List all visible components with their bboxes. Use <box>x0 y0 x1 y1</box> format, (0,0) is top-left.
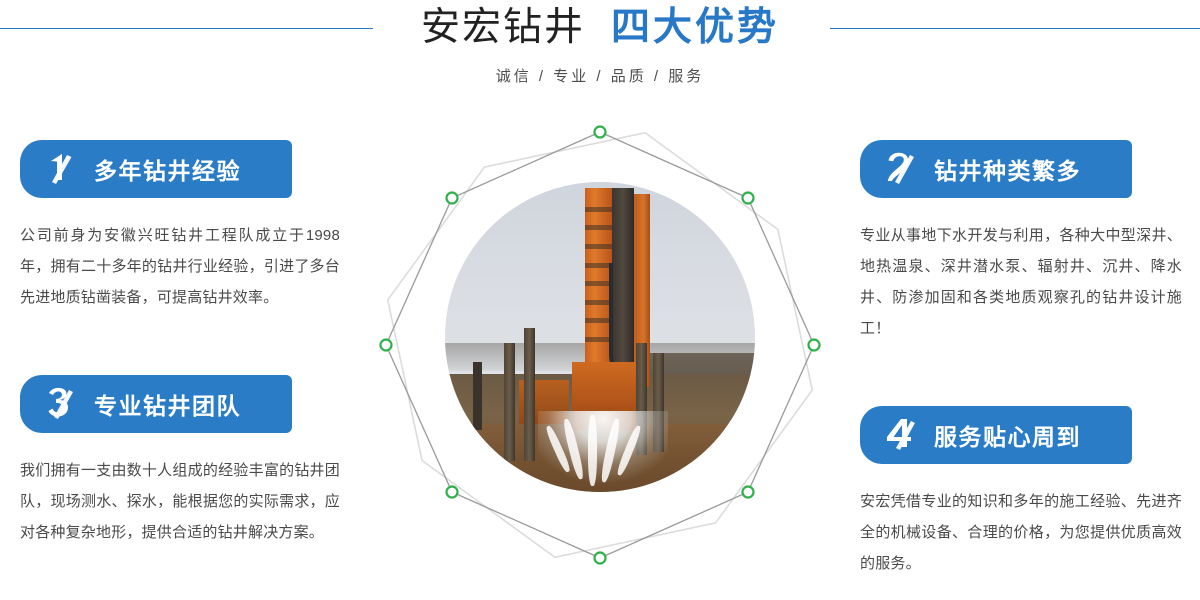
feature-body-4: 安宏凭借专业的知识和多年的施工经验、先进齐全的机械设备、合理的价格，为您提供优质… <box>860 486 1182 579</box>
number-3-icon <box>38 381 84 427</box>
feature-card-1: 多年钻井经验 公司前身为安徽兴旺钻井工程队成立于1998年，拥有二十多年的钻井行… <box>20 140 340 313</box>
feature-card-4: 服务贴心周到 安宏凭借专业的知识和多年的施工经验、先进齐全的机械设备、合理的价格… <box>860 406 1180 579</box>
feature-title-4: 服务贴心周到 <box>934 418 1081 452</box>
feature-title-2: 钻井种类繁多 <box>934 152 1081 186</box>
number-2-icon <box>878 146 924 192</box>
feature-card-2: 钻井种类繁多 专业从事地下水开发与利用，各种大中型深井、地热温泉、深井潜水泵、辐… <box>860 140 1180 344</box>
feature-title-1: 多年钻井经验 <box>94 152 241 186</box>
page-subtitle: 诚信 / 专业 / 品质 / 服务 <box>0 65 1200 86</box>
vertex-node-s <box>595 553 606 564</box>
feature-body-2: 专业从事地下水开发与利用，各种大中型深井、地热温泉、深井潜水泵、辐射井、沉井、降… <box>860 220 1182 344</box>
vertex-node-e <box>809 340 820 351</box>
feature-banner-1: 多年钻井经验 <box>20 140 292 198</box>
feature-column-right: 钻井种类繁多 专业从事地下水开发与利用，各种大中型深井、地热温泉、深井潜水泵、辐… <box>860 140 1180 579</box>
promo-page: 安宏钻井四大优势 诚信 / 专业 / 品质 / 服务 多年钻井经验 公司前身为安… <box>0 0 1200 600</box>
feature-body-1: 公司前身为安徽兴旺钻井工程队成立于1998年，拥有二十多年的钻井行业经验，引进了… <box>20 220 340 313</box>
vertex-node-w <box>381 340 392 351</box>
drilling-rig-photo <box>445 182 755 492</box>
vertex-node-n <box>595 127 606 138</box>
feature-body-3: 我们拥有一支由数十人组成的经验丰富的钻井团队，现场测水、探水，能根据您的实际需求… <box>20 455 340 548</box>
feature-banner-2: 钻井种类繁多 <box>860 140 1132 198</box>
feature-card-3: 专业钻井团队 我们拥有一支由数十人组成的经验丰富的钻井团队，现场测水、探水，能根… <box>20 375 340 548</box>
title-company: 安宏钻井 <box>421 8 585 47</box>
feature-banner-3: 专业钻井团队 <box>20 375 292 433</box>
page-title: 安宏钻井四大优势 <box>0 8 1200 47</box>
page-header: 安宏钻井四大优势 诚信 / 专业 / 品质 / 服务 <box>0 0 1200 112</box>
feature-title-3: 专业钻井团队 <box>94 387 241 421</box>
number-4-icon <box>878 412 924 458</box>
feature-column-left: 多年钻井经验 公司前身为安徽兴旺钻井工程队成立于1998年，拥有二十多年的钻井行… <box>20 140 340 548</box>
feature-banner-4: 服务贴心周到 <box>860 406 1132 464</box>
title-highlight: 四大优势 <box>611 8 779 47</box>
number-1-icon <box>38 146 84 192</box>
center-graphic <box>370 110 830 580</box>
